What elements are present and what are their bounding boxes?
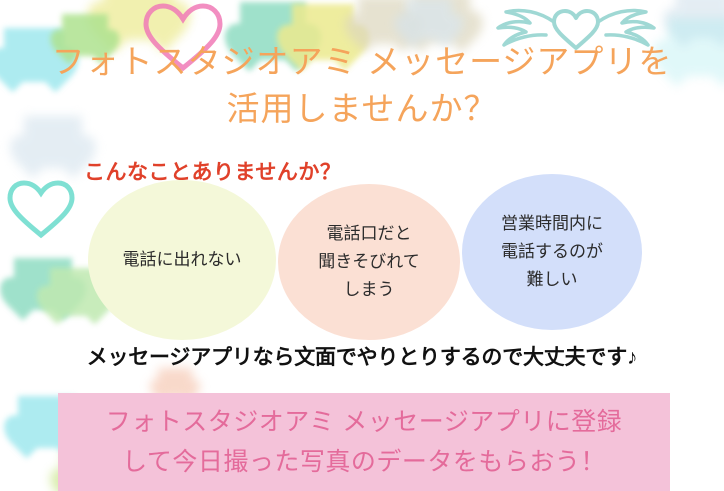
heart-outline-teal-left-icon: [4, 178, 78, 240]
pain-point-circle-2: 電話口だと 聞きそびれて しまう: [278, 184, 460, 340]
reassurance-message: メッセージアプリなら文面でやりとりするので大丈夫です♪: [0, 341, 724, 371]
heart-decoration-beige-top: [104, 0, 174, 40]
pain-point-circle-2-label: 電話口だと 聞きそびれて しまう: [318, 220, 420, 304]
page-title: フォトスタジオアミ メッセージアプリを 活用しませんか？: [0, 38, 724, 132]
cta-banner-label: フォトスタジオアミ メッセージアプリに登録 して今日撮った写真のデータをもらおう…: [106, 402, 622, 482]
heart-decoration-paleblue-topfarright: [676, 0, 724, 38]
heart-decoration-greenblue-left: [14, 258, 72, 310]
cta-banner: フォトスタジオアミ メッセージアプリに登録 して今日撮った写真のデータをもらおう…: [58, 393, 670, 491]
sub-question-label: こんなことありませんか？: [84, 156, 341, 186]
promo-poster: フォトスタジオアミ メッセージアプリを 活用しませんか？ こんなことありませんか…: [0, 0, 724, 491]
pain-point-circle-1-label: 電話に出れない: [123, 246, 242, 274]
heart-decoration-beige-topright: [412, 0, 470, 42]
pain-point-circle-3: 営業時間内に 電話するのが 難しい: [462, 174, 642, 330]
heart-decoration-paleblue-topright: [406, 0, 452, 40]
pain-point-circle-1: 電話に出れない: [88, 180, 276, 340]
pain-point-circle-3-label: 営業時間内に 電話するのが 難しい: [501, 210, 603, 294]
